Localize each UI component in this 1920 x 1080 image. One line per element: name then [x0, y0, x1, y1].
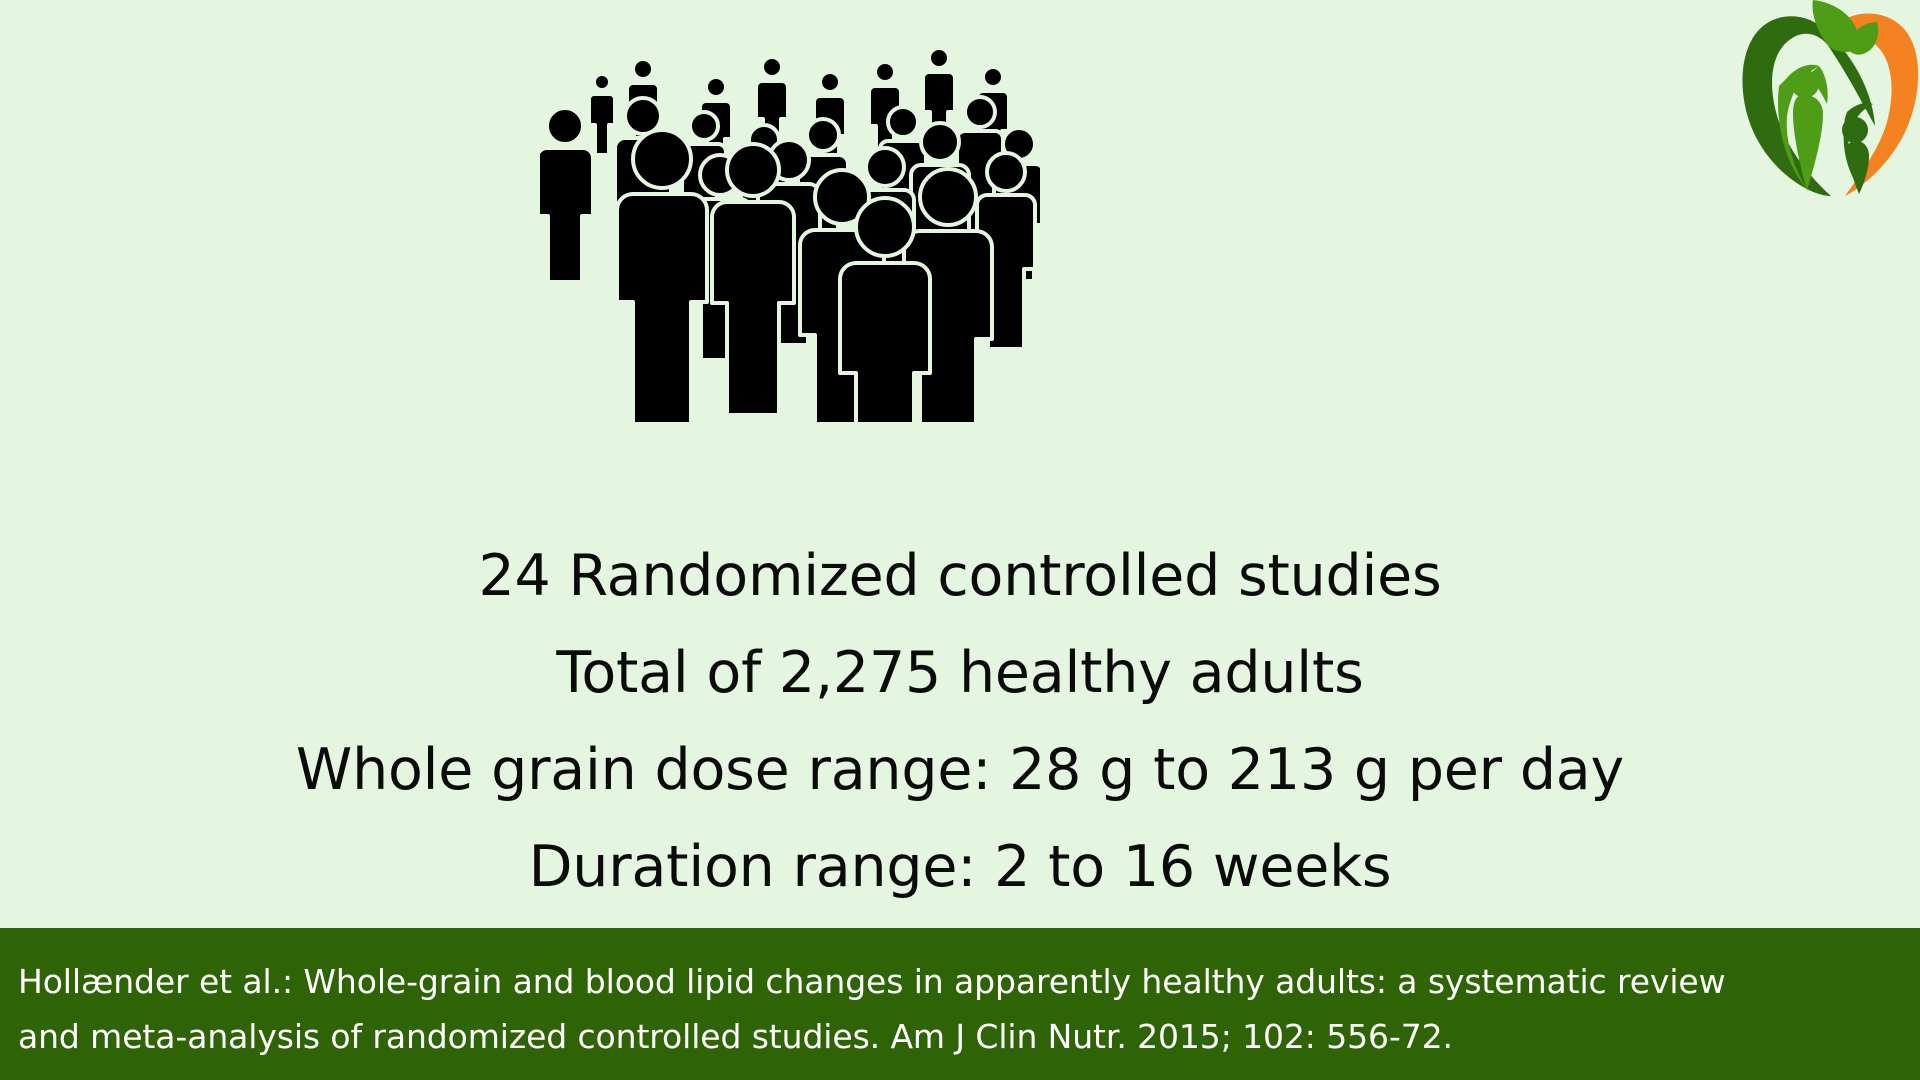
summary-line-4: Duration range: 2 to 16 weeks	[0, 819, 1920, 916]
crowd-figure-back-1	[589, 74, 615, 155]
citation-line-1: Hollænder et al.: Whole-grain and blood …	[18, 954, 1902, 1009]
apple-heart-family-logo	[1735, 0, 1920, 196]
logo-figure-right-head	[1842, 117, 1868, 143]
crowd-figure-second-1	[540, 108, 593, 282]
summary-line-2: Total of 2,275 healthy adults	[0, 625, 1920, 722]
slide-root: 24 Randomized controlled studies Total o…	[0, 0, 1920, 1080]
logo-figure-left-head	[1791, 70, 1819, 98]
citation-band: Hollænder et al.: Whole-grain and blood …	[0, 928, 1920, 1080]
citation-line-2: and meta-analysis of randomized controll…	[18, 1009, 1902, 1064]
summary-line-1: 24 Randomized controlled studies	[0, 528, 1920, 625]
crowd-of-people-icon	[540, 22, 1040, 422]
summary-line-3: Whole grain dose range: 28 g to 213 g pe…	[0, 722, 1920, 819]
logo-figure-right-body	[1847, 141, 1869, 194]
citation-text: Hollænder et al.: Whole-grain and blood …	[18, 954, 1902, 1064]
study-summary-text: 24 Randomized controlled studies Total o…	[0, 528, 1920, 916]
